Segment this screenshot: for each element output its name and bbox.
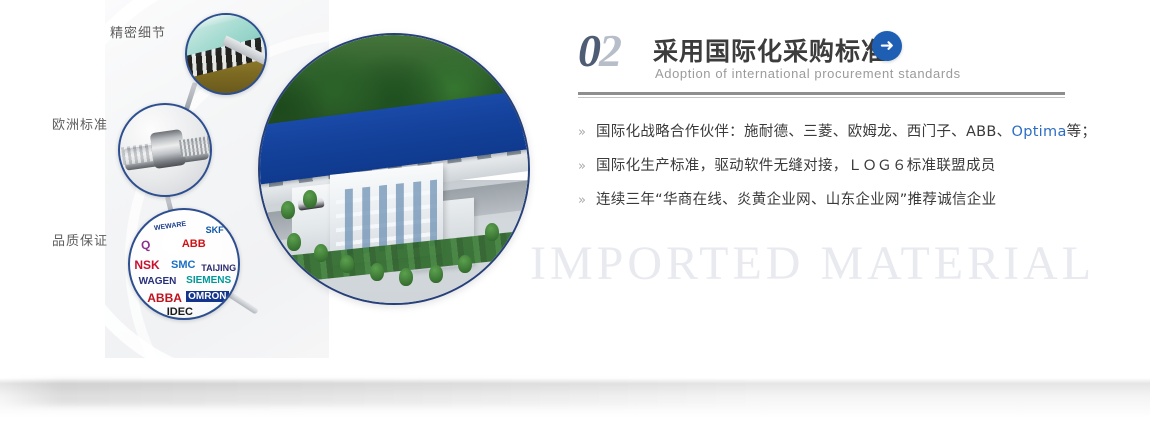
gear-detail-photo (185, 13, 267, 95)
brand-logo: SMC (171, 259, 195, 271)
photo-tree (399, 268, 413, 286)
section-number: 02 (578, 28, 620, 74)
factory-building-photo (258, 33, 530, 305)
bullet-item: »国际化生产标准，驱动软件无缝对接，ＬＯＧ６标准联盟成员 (578, 154, 1098, 175)
caption-european-standard: 欧洲标准 (52, 114, 108, 133)
bullet-plain-text: 等； (1067, 124, 1097, 140)
photo-tree (303, 190, 317, 208)
bullet-item: »国际化战略合作伙伴：施耐德、三菱、欧姆龙、西门子、ABB、Optima等； (578, 120, 1098, 141)
bottom-shadow-accent (0, 380, 760, 406)
caption-quality-assurance: 品质保证 (52, 230, 108, 249)
bullet-plain-text: 国际化生产标准，驱动软件无缝对接，ＬＯＧ６标准联盟成员 (596, 158, 996, 174)
bullet-chevron-icon: » (578, 193, 586, 208)
bullet-item: »连续三年“华商在线、炎黄企业网、山东企业网”推荐诚信企业 (578, 188, 1098, 209)
brand-logo: ABBA (147, 291, 182, 305)
photo-tree (458, 255, 472, 273)
photo-tree (429, 265, 443, 283)
promo-banner: 精密细节 欧洲标准 品质保证 WEWARESKFQABBNSKSMCTAIJIN… (0, 0, 1150, 430)
photo-tree (485, 223, 499, 241)
watermark-text: IMPORTED MATERIAL (530, 236, 1095, 291)
bullet-text: 国际化生产标准，驱动软件无缝对接，ＬＯＧ６标准联盟成员 (596, 154, 996, 175)
photo-tree (370, 263, 384, 281)
photo-tree (314, 244, 328, 262)
section-title-en: Adoption of international procurement st… (655, 66, 961, 81)
bullet-chevron-icon: » (578, 159, 586, 174)
bullet-text: 国际化战略合作伙伴：施耐德、三菱、欧姆龙、西门子、ABB、Optima等； (596, 120, 1096, 141)
bullet-plain-text: 连续三年“华商在线、炎黄企业网、山东企业网”推荐诚信企业 (596, 192, 996, 208)
arrow-right-icon[interactable]: ➜ (872, 31, 902, 61)
divider-thin (578, 97, 1065, 98)
photo-tree (340, 255, 354, 273)
brand-logo: SIEMENS (186, 275, 231, 286)
brand-logo: WAGEN (139, 276, 177, 287)
photo-tree (287, 233, 301, 251)
brand-logo: WEWARE (153, 221, 186, 232)
bullet-text: 连续三年“华商在线、炎黄企业网、山东企业网”推荐诚信企业 (596, 188, 996, 209)
brand-logo: IDEC (167, 306, 193, 318)
section-number-first: 0 (578, 25, 599, 76)
ball-screw-photo (118, 103, 212, 197)
section-title-cn: 采用国际化采购标准 (653, 32, 887, 68)
feature-bullet-list: »国际化战略合作伙伴：施耐德、三菱、欧姆龙、西门子、ABB、Optima等；»国… (578, 120, 1098, 222)
brand-logo: Q (140, 238, 151, 253)
section-number-second: 2 (599, 25, 620, 76)
bottom-shadow-band (0, 378, 1150, 418)
divider-thick (578, 92, 1065, 95)
brand-logo: SKF (206, 225, 224, 235)
brand-logos-circle: WEWARESKFQABBNSKSMCTAIJINGWAGENSIEMENSAB… (128, 208, 240, 320)
caption-precision-detail: 精密细节 (110, 22, 166, 41)
bullet-chevron-icon: » (578, 125, 586, 140)
brand-logo: NSK (134, 258, 159, 272)
brand-logo: OMRON (186, 291, 228, 302)
bullet-plain-text: 国际化战略合作伙伴：施耐德、三菱、欧姆龙、西门子、ABB、 (596, 124, 1012, 140)
brand-logo: TAIJING (201, 263, 236, 273)
brand-logo: ABB (182, 238, 206, 250)
bullet-accent-text: Optima (1011, 124, 1066, 140)
